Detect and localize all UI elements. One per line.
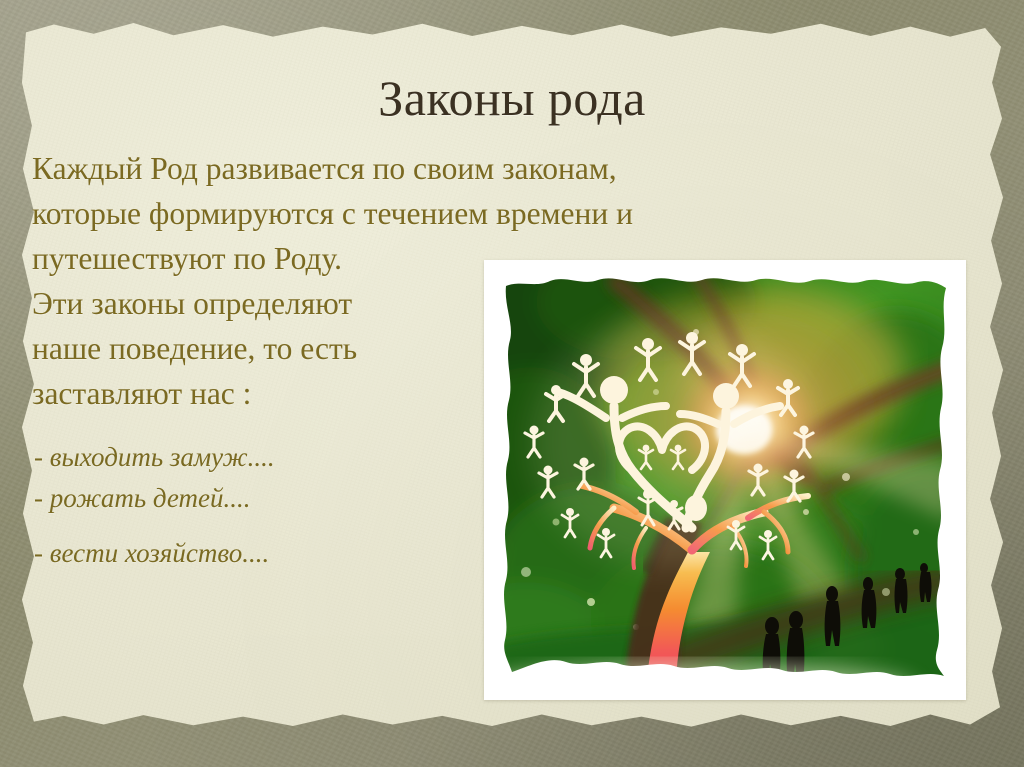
body-line: которые формируются с течением времени и [32, 191, 892, 236]
slide: Законы рода Каждый Род развивается по св… [0, 0, 1024, 767]
list-item: - вести хозяйство.... [34, 533, 464, 574]
body-line: Каждый Род развивается по своим законам, [32, 146, 892, 191]
family-tree-illustration [496, 272, 954, 688]
picture-frame [484, 260, 966, 700]
list-item: - выходить замуж.... [34, 437, 464, 478]
bullet-list: - выходить замуж.... - рожать детей.... … [34, 437, 464, 574]
page-title: Законы рода [0, 72, 1024, 125]
family-tree-svg [496, 272, 954, 688]
list-item: - рожать детей.... [34, 478, 464, 519]
tree-glow [531, 317, 811, 567]
